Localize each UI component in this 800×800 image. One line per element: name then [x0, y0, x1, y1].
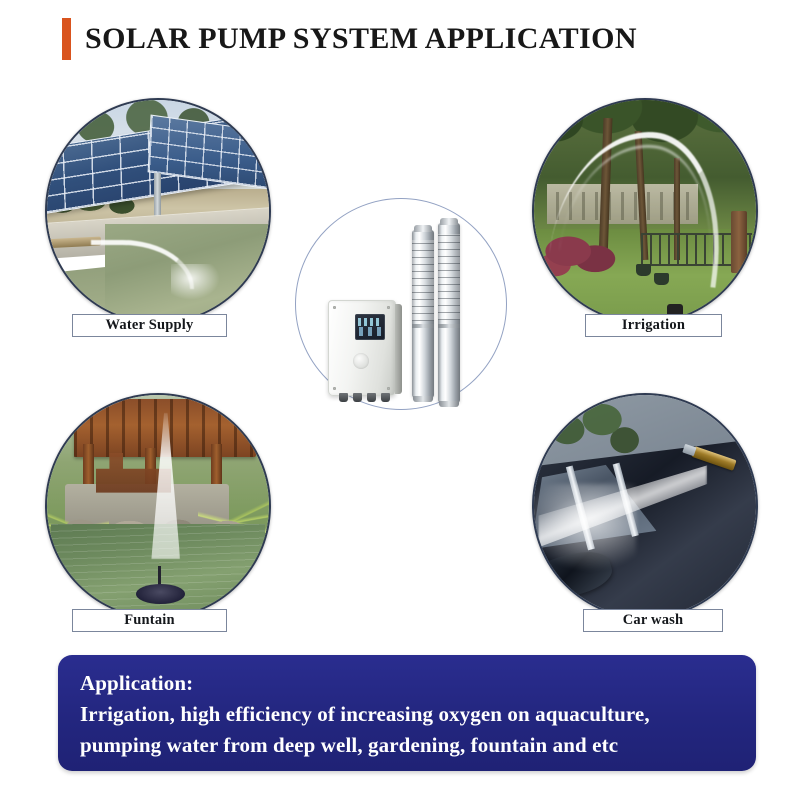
screw [387, 387, 390, 390]
lcd-keypad [359, 327, 381, 336]
lcd-digits [358, 318, 382, 326]
screw [387, 306, 390, 309]
scene-water-supply [47, 100, 269, 322]
photo-fountain [45, 393, 271, 619]
photo-irrigation [532, 98, 758, 324]
water-splash [171, 264, 220, 300]
page-title-text: SOLAR PUMP SYSTEM APPLICATION [85, 22, 637, 56]
floating-solar-fountain [136, 584, 185, 604]
pump-coupling [438, 324, 460, 328]
pump-outlet [440, 218, 458, 225]
page-title: SOLAR PUMP SYSTEM APPLICATION [62, 18, 637, 60]
submersible-pump [412, 230, 434, 398]
product-stage [300, 215, 505, 415]
pump-coupling [412, 324, 434, 328]
submersible-pump [438, 223, 460, 403]
application-heading: Application: [80, 668, 736, 699]
wooden-post [731, 211, 747, 273]
pump-outlet [414, 225, 432, 232]
controller-lcd-display [355, 314, 385, 340]
application-description-box: Application: Irrigation, high efficiency… [58, 655, 756, 771]
cable-gland [353, 393, 362, 402]
pump-base [439, 401, 459, 407]
controller-knob [353, 353, 369, 369]
screw [333, 306, 336, 309]
cable-gland [381, 393, 390, 402]
pump-ribs [412, 240, 434, 321]
cable-gland [339, 393, 348, 402]
pump-ribs [438, 234, 460, 320]
photo-car-wash [532, 393, 758, 619]
application-line-1: Irrigation, high efficiency of increasin… [80, 699, 736, 730]
caption-fountain: Funtain [72, 609, 227, 632]
application-line-2: pumping water from deep well, gardening,… [80, 730, 736, 761]
photo-water-supply [45, 98, 271, 324]
pump-base [413, 396, 433, 402]
screw [333, 387, 336, 390]
title-accent-bar [62, 18, 71, 60]
scene-car-wash [534, 395, 756, 617]
cable-gland [367, 393, 376, 402]
caption-irrigation: Irrigation [585, 314, 722, 337]
caption-car-wash: Car wash [583, 609, 723, 632]
scene-irrigation [534, 100, 756, 322]
water-mist [532, 484, 636, 573]
caption-water-supply: Water Supply [72, 314, 227, 337]
infographic-page: SOLAR PUMP SYSTEM APPLICATION Water Supp… [0, 0, 800, 800]
solar-pump-controller [328, 300, 396, 396]
scene-fountain [47, 395, 269, 617]
